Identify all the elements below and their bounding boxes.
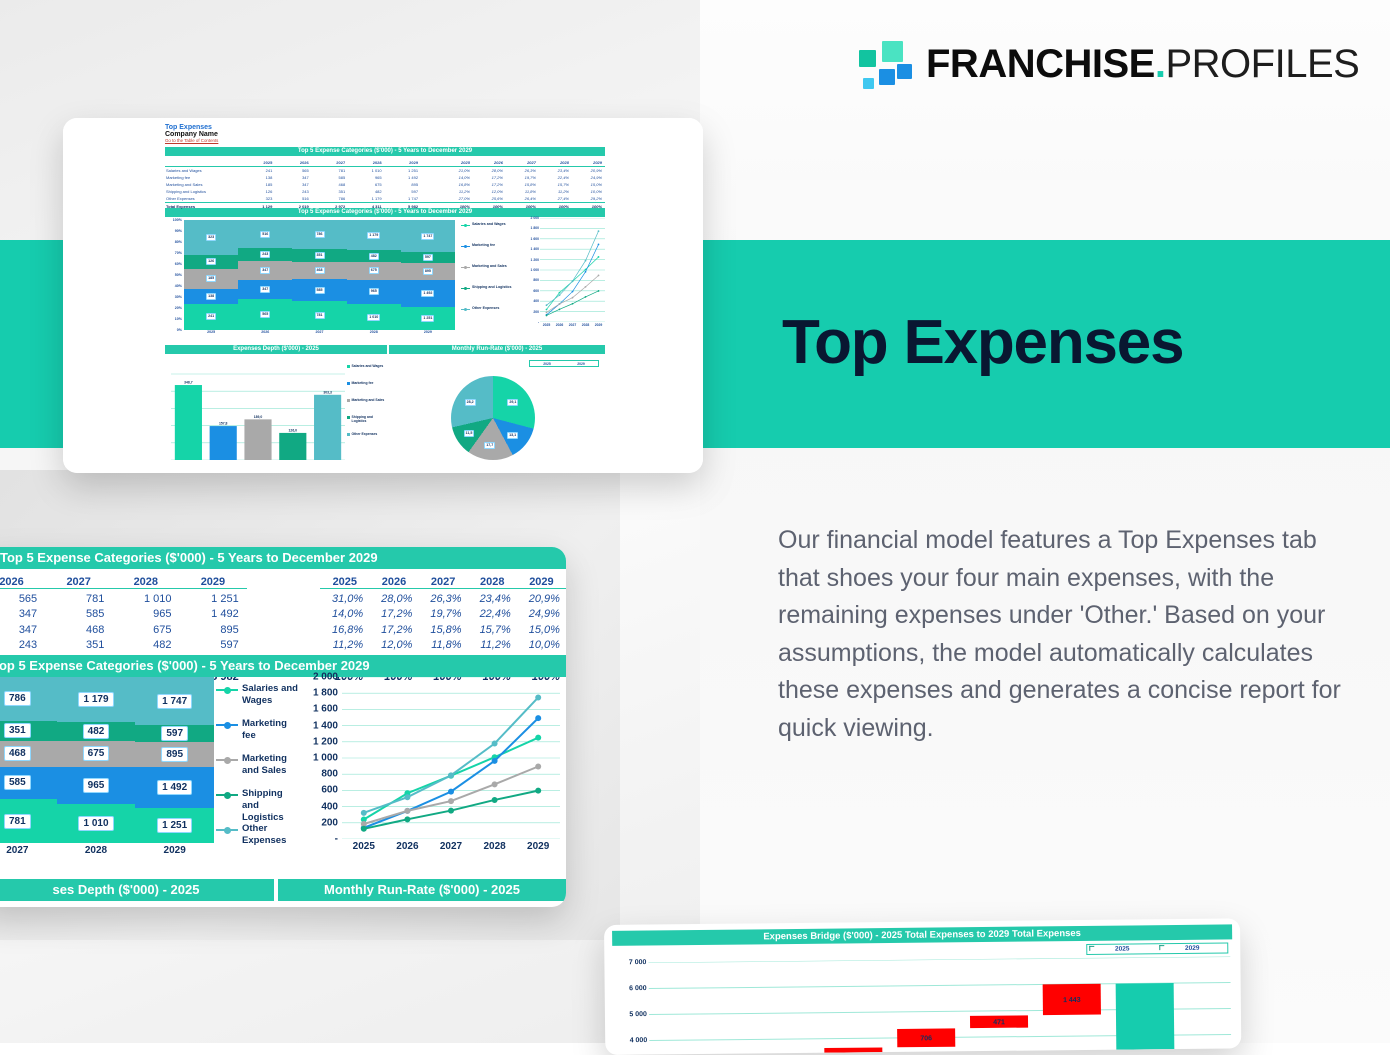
zoom-x-axis-years: 202720282029 bbox=[0, 845, 214, 856]
legend-item[interactable]: Marketing and Sales bbox=[216, 753, 302, 788]
svg-text:1 443: 1 443 bbox=[1063, 997, 1081, 1004]
expenses-depth-chart[interactable]: 348,7157,8189,0126,0303,3 Salaries and W… bbox=[165, 358, 387, 463]
pie-slice-label: 29,1 bbox=[507, 399, 518, 406]
line-chart[interactable]: 2 0001 8001 6001 4001 2001 0008006004002… bbox=[525, 218, 605, 338]
pie-slice-label: 28,2 bbox=[465, 399, 476, 406]
banner-top-table: Top 5 Expense Categories ($'000) - 5 Yea… bbox=[165, 147, 605, 156]
table-row: Salaries and Wages2415657811 0101 25121,… bbox=[165, 167, 605, 174]
svg-text:471: 471 bbox=[993, 1019, 1005, 1026]
expense-table[interactable]: 2025202620272028202920252026202720282029… bbox=[165, 159, 605, 209]
screenshot-card-bridge[interactable]: Expenses Bridge ($'000) - 2025 Total Exp… bbox=[604, 918, 1241, 1055]
svg-text:303,3: 303,3 bbox=[323, 390, 332, 394]
zoom-stacked-bar-chart[interactable]: 7863514685857811 1794826759651 0101 7475… bbox=[0, 677, 214, 857]
table-row: Marketing and Sales18534746867589516,8%1… bbox=[165, 181, 605, 188]
brand-logo[interactable]: FRANCHISE.PROFILES bbox=[852, 36, 1359, 92]
monthly-runrate-pie-chart[interactable]: 20252029 29,113,117,711,528,2 bbox=[389, 358, 605, 463]
legend-item[interactable]: Marketing and Sales bbox=[347, 398, 387, 415]
legend-item[interactable]: Marketing fee bbox=[347, 381, 387, 398]
zoom-stacked-columns: 7863514685857811 1794826759651 0101 7475… bbox=[0, 677, 214, 843]
legend-item[interactable]: Marketing and Sales bbox=[461, 264, 523, 285]
legend-item[interactable]: 2025 bbox=[530, 361, 564, 366]
table-row: 24335148259711,2%12,0%11,8%11,2%10,0% bbox=[0, 638, 566, 654]
table-total-row: Total Expenses1 1292 0192 9724 3115 9821… bbox=[165, 202, 605, 209]
stacked-column: 1 7475978951 4921 251 bbox=[135, 677, 214, 843]
svg-text:157,8: 157,8 bbox=[219, 422, 228, 426]
pie-slice-label: 13,1 bbox=[507, 432, 518, 439]
brand-wordmark: FRANCHISE.PROFILES bbox=[926, 44, 1359, 84]
logo-squares-icon bbox=[852, 36, 908, 92]
x-axis-years: 20252026202720282029 bbox=[184, 330, 455, 334]
svg-text:126,0: 126,0 bbox=[289, 428, 298, 432]
description-paragraph: Our financial model features a Top Expen… bbox=[778, 522, 1344, 747]
sheet-title: Top Expenses bbox=[165, 124, 218, 131]
legend-item[interactable]: Shipping and Logistics bbox=[216, 788, 302, 823]
legend-item[interactable]: Shipping and Logistics bbox=[461, 285, 523, 306]
legend-item[interactable]: Marketing fee bbox=[461, 243, 523, 264]
zoom-chart-area: 7863514685857811 1794826759651 0101 7475… bbox=[0, 677, 566, 877]
stacked-column: 786351468585781 bbox=[0, 677, 57, 843]
table-row: Marketing fee1383475859651 49214,0%17,2%… bbox=[165, 174, 605, 181]
table-row: 5657811 0101 25131,0%28,0%26,3%23,4%20,9… bbox=[0, 591, 566, 607]
page-title: Top Expenses bbox=[782, 312, 1183, 374]
table-row: 34746867589516,8%17,2%15,8%15,7%15,0% bbox=[0, 622, 566, 638]
zoom-banner-chart: Top 5 Expense Categories ($'000) - 5 Yea… bbox=[0, 655, 566, 677]
line-plot bbox=[540, 218, 605, 322]
toc-link[interactable]: Go to the Table of Contents bbox=[165, 138, 218, 143]
depth-legend[interactable]: Salaries and WagesMarketing feeMarketing… bbox=[347, 364, 387, 449]
zoom-line-y-axis: 2 0001 8001 6001 4001 2001 0008006004002… bbox=[300, 677, 340, 839]
bridge-legend[interactable]: 20252029 bbox=[1086, 942, 1228, 954]
table-row: Shipping and Logistics12624335148259711,… bbox=[165, 188, 605, 195]
table-row: Other Expenses3235167861 1791 74727,0%25… bbox=[165, 195, 605, 202]
spreadsheet-surface: Top Expenses Company Name Go to the Tabl… bbox=[63, 118, 703, 473]
stacked-bar-chart[interactable]: 100%90%80%70%60%50%40%30%20%10%0% 323126… bbox=[165, 220, 455, 338]
legend-item[interactable]: 2025 bbox=[1087, 944, 1157, 954]
zoom-banner-table: Top 5 Expense Categories ($'000) - 5 Yea… bbox=[0, 547, 566, 569]
company-name: Company Name bbox=[165, 131, 218, 138]
bridge-y-axis: 7 0006 0005 0004 000 bbox=[612, 963, 647, 1055]
bridge-plot: 7064711 443 bbox=[648, 956, 1231, 1054]
pie-legend[interactable]: 20252029 bbox=[529, 360, 599, 367]
legend-item[interactable]: Salaries and Wages bbox=[461, 222, 523, 243]
legend-item[interactable]: Marketing fee bbox=[216, 718, 302, 753]
screenshot-card-zoomed-sheet[interactable]: Top 5 Expense Categories ($'000) - 5 Yea… bbox=[0, 547, 566, 907]
svg-text:706: 706 bbox=[920, 1035, 932, 1042]
zoom-line-x-axis: 20252026202720282029 bbox=[342, 841, 560, 852]
line-y-axis: 2 0001 8001 6001 4001 2001 0008006004002… bbox=[525, 218, 539, 322]
svg-text:348,7: 348,7 bbox=[184, 381, 193, 385]
line-x-axis: 20252026202720282029 bbox=[540, 323, 605, 327]
legend-item[interactable]: Salaries and Wages bbox=[347, 364, 387, 381]
pie-slice-label: 17,7 bbox=[484, 442, 495, 449]
depth-bar-plot: 348,7157,8189,0126,0303,3 bbox=[171, 366, 345, 455]
zoom-footer-banners: ses Depth ($'000) - 2025 Monthly Run-Rat… bbox=[0, 879, 566, 901]
stacked-bar-plot: 3231261851382415162433473475657863514685… bbox=[184, 220, 455, 330]
banner-runrate: Monthly Run-Rate ($'000) - 2025 bbox=[389, 345, 605, 354]
zoom-line-chart[interactable]: 2 0001 8001 6001 4001 2001 0008006004002… bbox=[300, 677, 562, 859]
zoom-footer-depth: ses Depth ($'000) - 2025 bbox=[0, 879, 274, 901]
sheet-header: Top Expenses Company Name Go to the Tabl… bbox=[165, 124, 218, 143]
brand-dot: . bbox=[1155, 42, 1166, 86]
chart-legend[interactable]: Salaries and WagesMarketing feeMarketing… bbox=[461, 222, 523, 327]
table-row: 3475859651 49214,0%17,2%19,7%22,4%24,9% bbox=[0, 607, 566, 623]
stacked-column: 1 1794826759651 010 bbox=[57, 677, 136, 843]
legend-item[interactable]: Shipping and Logistics bbox=[347, 415, 387, 432]
zoom-footer-runrate: Monthly Run-Rate ($'000) - 2025 bbox=[278, 879, 566, 901]
legend-item[interactable]: 2029 bbox=[564, 361, 598, 366]
brand-name-light: PROFILES bbox=[1165, 42, 1359, 86]
pie-slice-label: 11,5 bbox=[464, 430, 475, 437]
screenshot-card-full-sheet[interactable]: Top Expenses Company Name Go to the Tabl… bbox=[63, 118, 703, 473]
zoom-chart-legend[interactable]: Salaries and WagesMarketing feeMarketing… bbox=[216, 683, 302, 858]
legend-item[interactable]: 2029 bbox=[1157, 943, 1227, 953]
svg-text:189,0: 189,0 bbox=[254, 415, 263, 419]
legend-item[interactable]: Other Expenses bbox=[216, 823, 302, 858]
zoom-line-plot bbox=[342, 677, 560, 839]
y-axis-percent: 100%90%80%70%60%50%40%30%20%10%0% bbox=[165, 220, 183, 330]
legend-item[interactable]: Other Expenses bbox=[461, 306, 523, 327]
legend-item[interactable]: Salaries and Wages bbox=[216, 683, 302, 718]
brand-name-bold: FRANCHISE bbox=[926, 42, 1155, 86]
banner-depth: Expenses Depth ($'000) - 2025 bbox=[165, 345, 387, 354]
legend-item[interactable]: Other Expenses bbox=[347, 432, 387, 449]
